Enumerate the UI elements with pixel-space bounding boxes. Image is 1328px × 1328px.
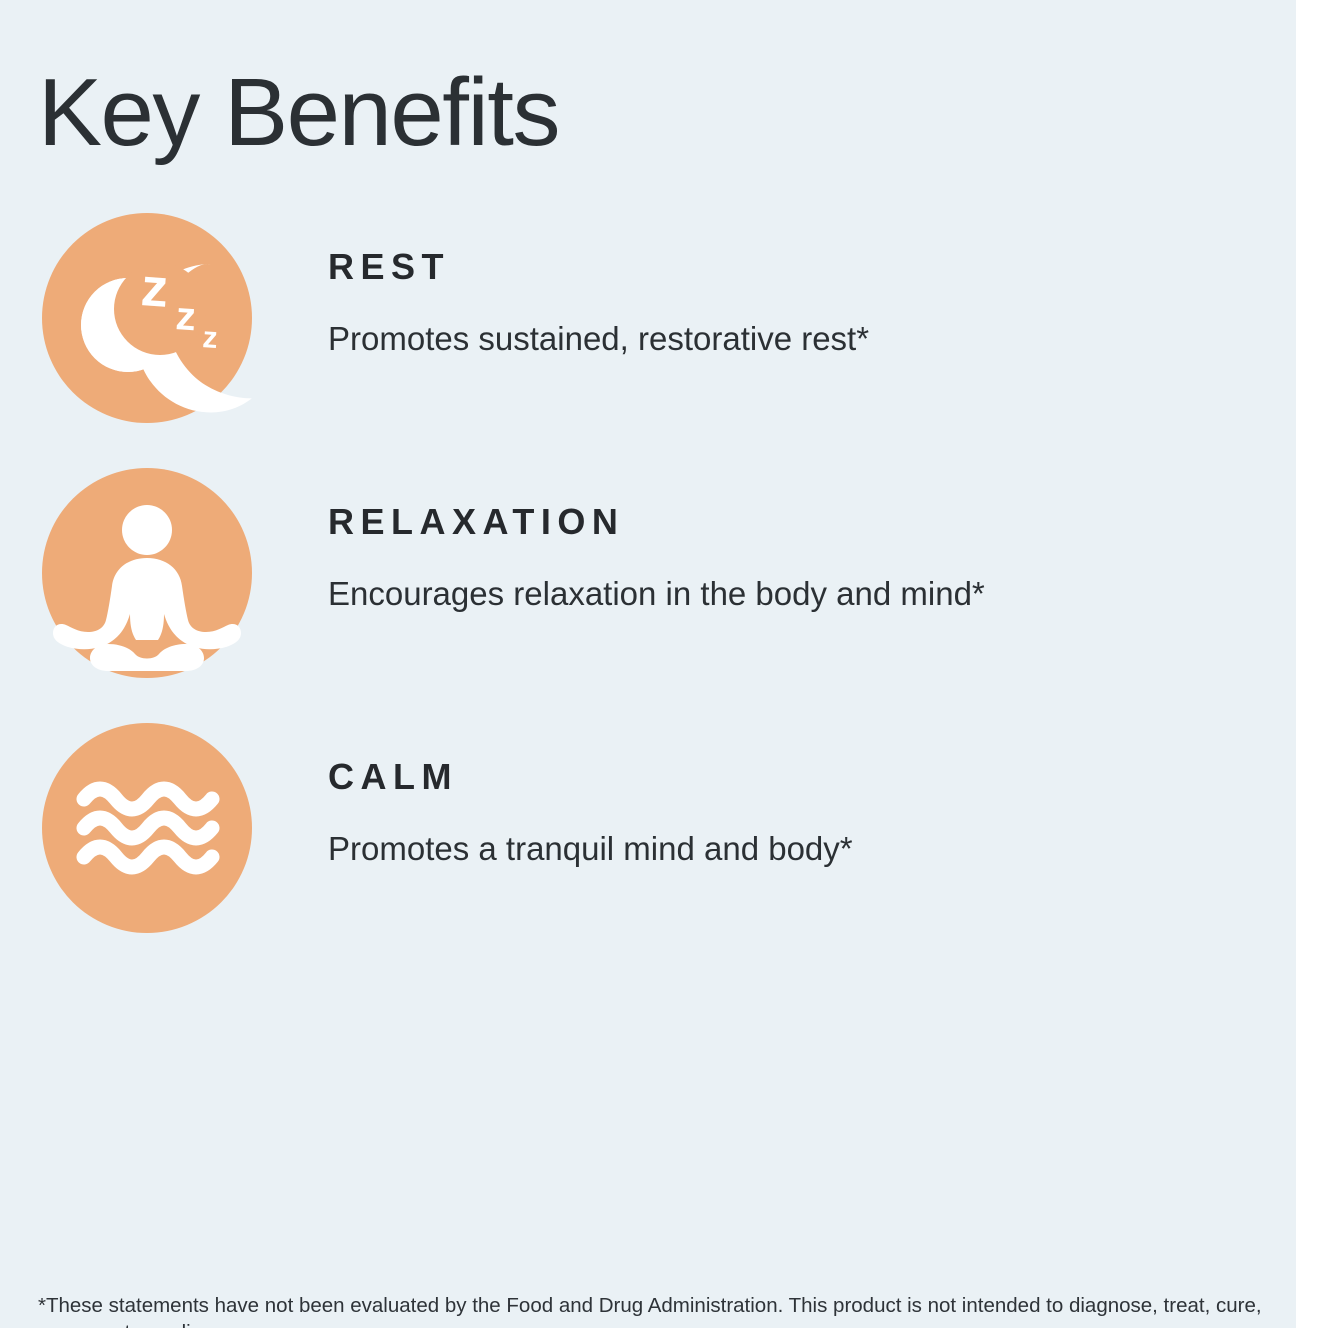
- page-title: Key Benefits: [38, 58, 559, 168]
- benefits-list: z z z REST Promotes sustained, restorati…: [0, 213, 1296, 978]
- benefit-heading: CALM: [328, 759, 1258, 795]
- benefit-heading: REST: [328, 249, 1258, 285]
- benefit-item-relaxation: RELAXATION Encourages relaxation in the …: [0, 468, 1296, 723]
- moon-zzz-icon: z z z: [42, 213, 252, 423]
- benefit-heading: RELAXATION: [328, 504, 1258, 540]
- svg-text:z: z: [139, 257, 170, 319]
- benefit-description-text: Encourages relaxation in the body and mi…: [328, 575, 972, 612]
- key-benefits-page: Key Benefits: [0, 0, 1328, 1328]
- footnote-marker: *: [856, 320, 869, 357]
- svg-text:z: z: [202, 321, 219, 355]
- fda-disclaimer: *These statements have not been evaluate…: [38, 1292, 1283, 1328]
- benefit-description-text: Promotes a tranquil mind and body: [328, 830, 840, 867]
- benefit-text-block: RELAXATION Encourages relaxation in the …: [328, 504, 1258, 614]
- benefit-description: Promotes sustained, restorative rest*: [328, 319, 1258, 359]
- benefit-description: Promotes a tranquil mind and body*: [328, 829, 1258, 869]
- benefit-text-block: REST Promotes sustained, restorative res…: [328, 249, 1258, 359]
- content-canvas: Key Benefits: [0, 0, 1296, 1328]
- footnote-marker: *: [972, 575, 985, 612]
- benefit-item-rest: z z z REST Promotes sustained, restorati…: [0, 213, 1296, 468]
- benefit-item-calm: CALM Promotes a tranquil mind and body*: [0, 723, 1296, 978]
- benefit-text-block: CALM Promotes a tranquil mind and body*: [328, 759, 1258, 869]
- waves-icon: [42, 723, 252, 933]
- meditating-person-icon: [42, 468, 252, 678]
- svg-text:z: z: [174, 294, 197, 339]
- benefit-description: Encourages relaxation in the body and mi…: [328, 574, 1258, 614]
- footnote-marker: *: [840, 830, 853, 867]
- benefit-description-text: Promotes sustained, restorative rest: [328, 320, 856, 357]
